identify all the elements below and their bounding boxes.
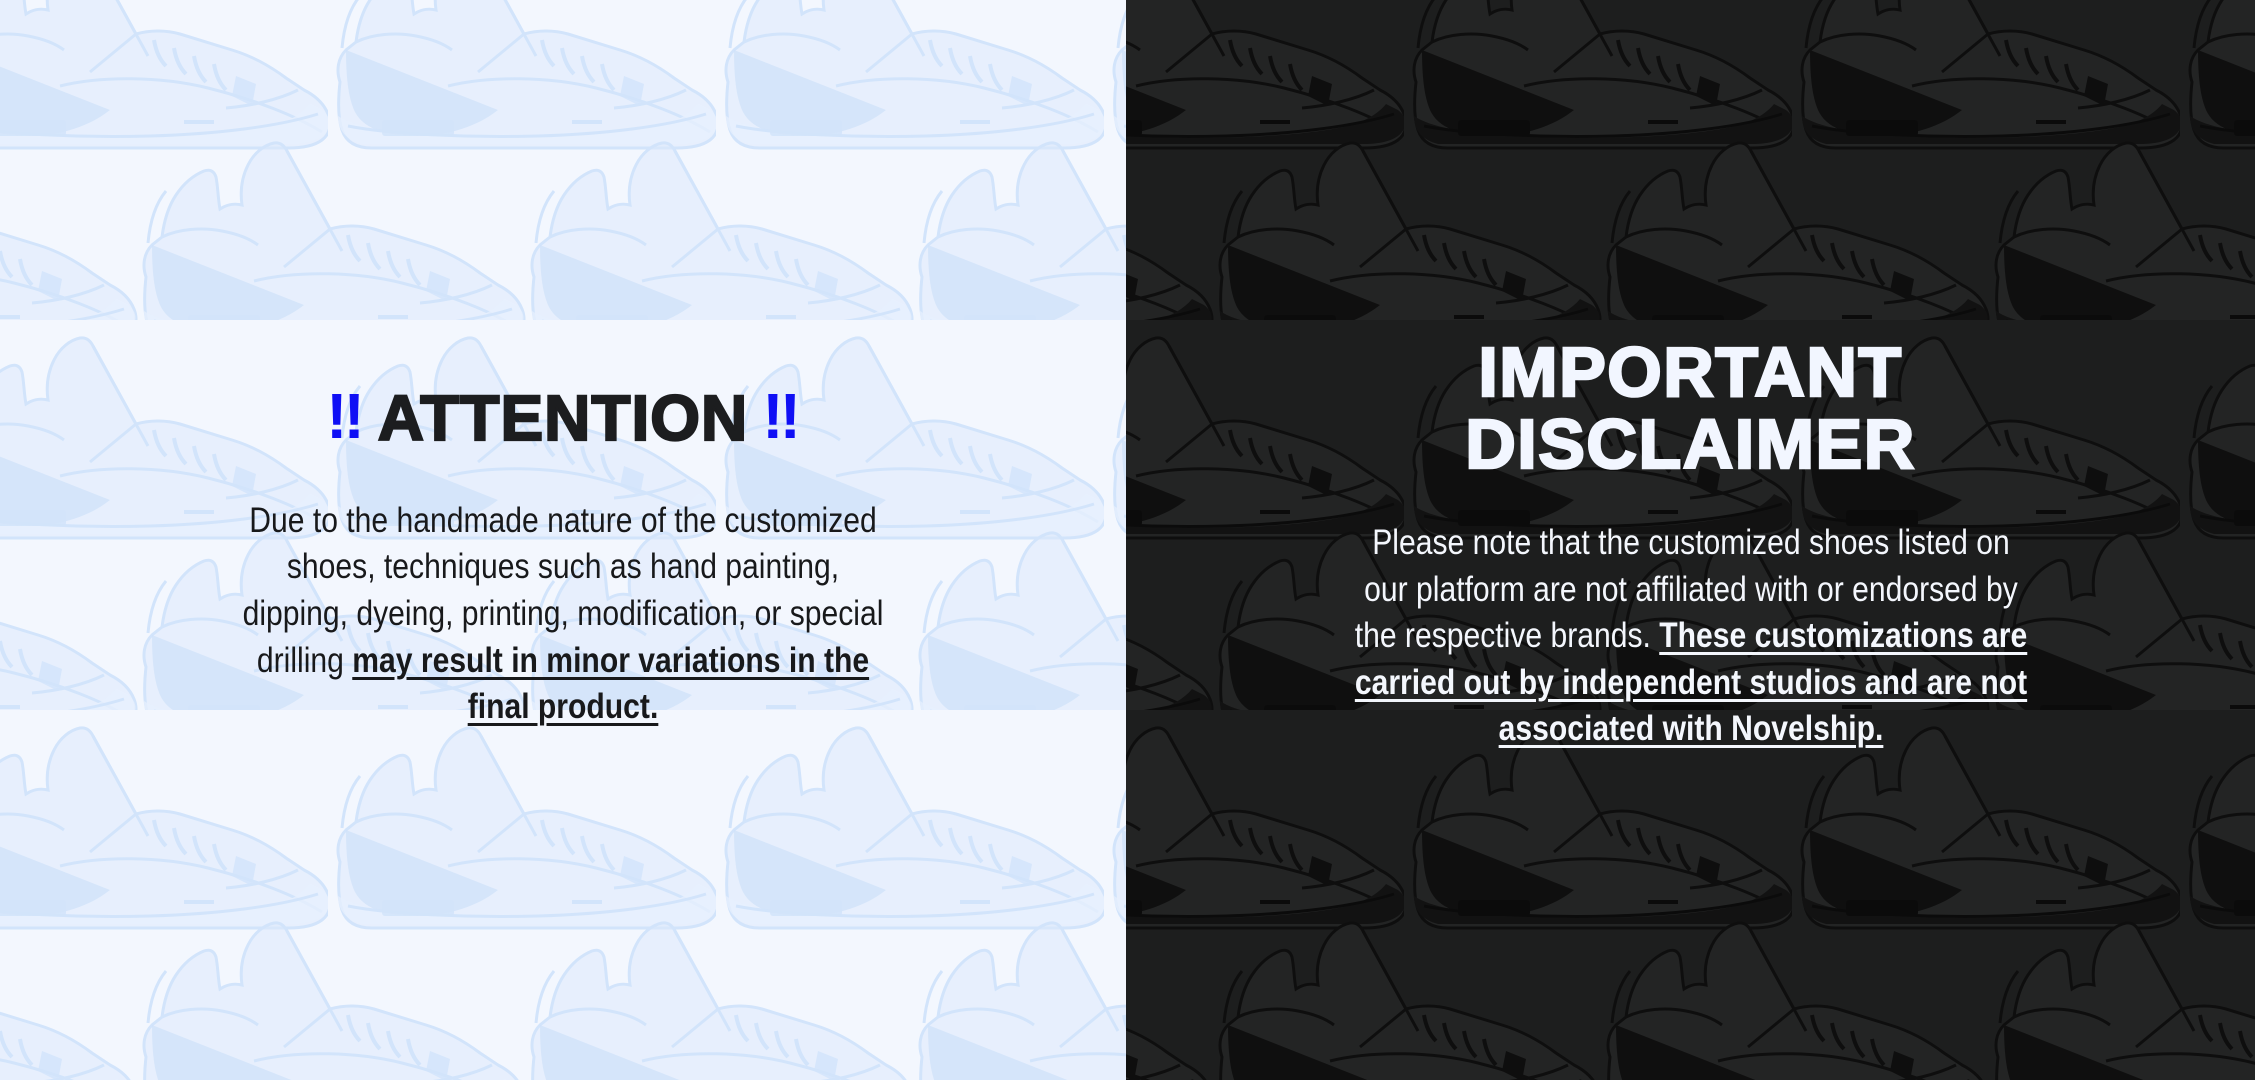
disclaimer-body: Please note that the customized shoes li… xyxy=(1351,520,2030,753)
attention-body-emphasis: may result in minor variations in the fi… xyxy=(352,641,869,727)
disclaimer-banner: ‼ATTENTION‼ Due to the handmade nature o… xyxy=(0,0,2255,1080)
disclaimer-panel: IMPORTANT DISCLAIMER Please note that th… xyxy=(1126,0,2255,1080)
attention-headline: ‼ATTENTION‼ xyxy=(40,385,1086,452)
double-exclamation-icon-left: ‼ xyxy=(326,383,364,450)
attention-headline-text: ATTENTION xyxy=(378,382,748,454)
disclaimer-headline: IMPORTANT DISCLAIMER xyxy=(1166,337,2215,480)
disclaimer-headline-line2: DISCLAIMER xyxy=(1166,409,2215,480)
attention-panel: ‼ATTENTION‼ Due to the handmade nature o… xyxy=(0,0,1126,1080)
attention-body: Due to the handmade nature of the custom… xyxy=(232,498,894,731)
double-exclamation-icon-right: ‼ xyxy=(762,383,800,450)
disclaimer-headline-line1: IMPORTANT xyxy=(1166,337,2215,408)
